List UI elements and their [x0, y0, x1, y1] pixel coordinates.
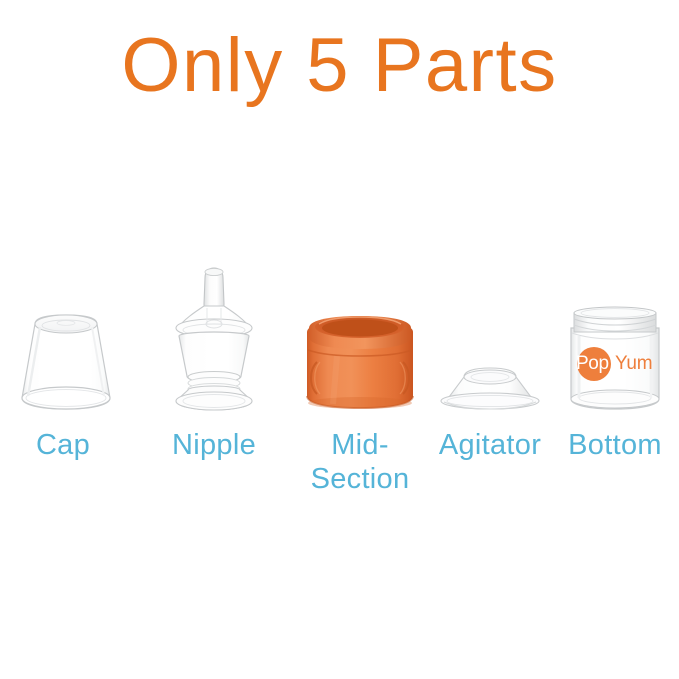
part-image-mid-section	[301, 304, 419, 421]
part-label-nipple: Nipple	[150, 428, 278, 462]
bottle-cap-shape	[14, 306, 118, 416]
parts-labels-row: Cap Nipple Mid-Section Agitator Bottom	[0, 428, 679, 498]
part-image-nipple	[157, 264, 271, 421]
bottle-mid-section-shape	[301, 304, 419, 416]
part-label-cap: Cap	[2, 428, 124, 462]
part-image-agitator	[434, 361, 546, 420]
page-title: Only 5 Parts	[0, 20, 679, 112]
popyum-logo-yum-text: Yum	[615, 351, 652, 377]
product-parts-infographic: Only 5 Parts	[0, 0, 679, 679]
parts-row: Pop Yum	[0, 262, 679, 422]
part-label-bottom: Bottom	[552, 428, 678, 462]
part-image-bottom: Pop Yum	[561, 304, 669, 421]
bottle-agitator-shape	[434, 361, 546, 415]
part-image-cap	[14, 306, 118, 421]
part-label-agitator: Agitator	[422, 428, 558, 462]
popyum-logo-pop-text: Pop	[576, 351, 616, 377]
part-label-mid-section: Mid-Section	[296, 428, 424, 496]
bottle-nipple-shape	[157, 264, 271, 416]
popyum-logo: Pop Yum	[573, 347, 657, 381]
